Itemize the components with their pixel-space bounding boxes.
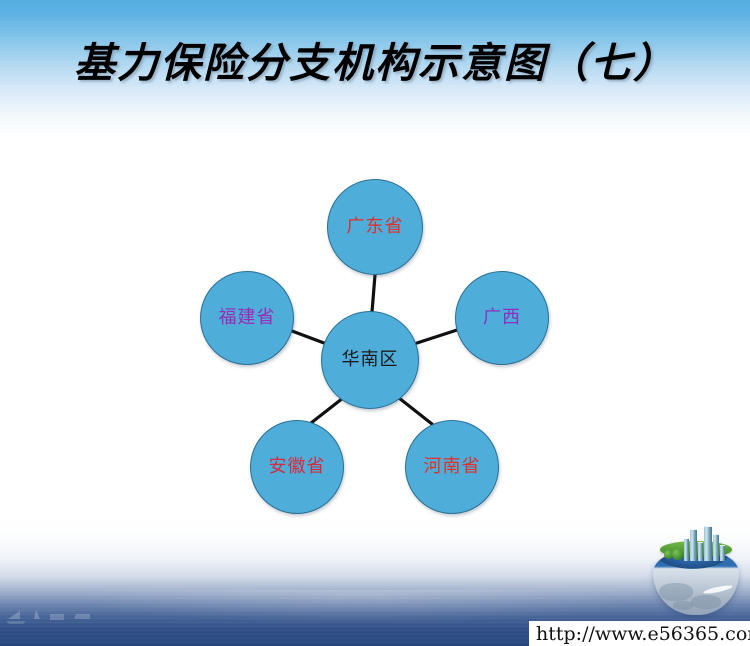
node-anhui-label: 安徽省 bbox=[269, 458, 326, 476]
globe-landmass bbox=[659, 583, 693, 601]
node-guangxi-label: 广西 bbox=[483, 309, 521, 327]
node-guangdong[interactable]: 广东省 bbox=[327, 179, 423, 275]
globe-city-skyline bbox=[650, 521, 742, 561]
node-anhui[interactable]: 安徽省 bbox=[250, 420, 344, 514]
globe-landmass bbox=[673, 601, 693, 610]
node-center-label: 华南区 bbox=[342, 351, 399, 369]
node-henan[interactable]: 河南省 bbox=[405, 420, 499, 514]
watermark-url-box: http://www.e56365.com bbox=[529, 621, 750, 646]
globe-landmass bbox=[691, 595, 721, 609]
node-guangxi[interactable]: 广西 bbox=[455, 271, 549, 365]
node-guangdong-label: 广东省 bbox=[347, 218, 404, 236]
branch-structure-diagram: 广东省 福建省 广西 安徽省 河南省 华南区 bbox=[0, 0, 750, 646]
slide-canvas: 基力保险分支机构示意图（七） 广东省 福建省 广西 安徽省 河南省 华南区 bbox=[0, 0, 750, 646]
node-henan-label: 河南省 bbox=[424, 458, 481, 476]
edge-center-anhui bbox=[311, 398, 343, 423]
edge-center-fujian bbox=[292, 331, 324, 343]
globe-highlight bbox=[703, 584, 733, 595]
node-fujian[interactable]: 福建省 bbox=[200, 271, 294, 365]
edge-center-guangdong bbox=[372, 275, 375, 312]
edge-center-guangxi bbox=[417, 330, 457, 343]
edge-center-henan bbox=[399, 398, 432, 424]
node-center-huanan[interactable]: 华南区 bbox=[321, 311, 419, 409]
watermark-url-text: http://www.e56365.com bbox=[536, 623, 750, 645]
earth-city-globe-icon bbox=[650, 521, 742, 617]
node-fujian-label: 福建省 bbox=[219, 309, 276, 327]
